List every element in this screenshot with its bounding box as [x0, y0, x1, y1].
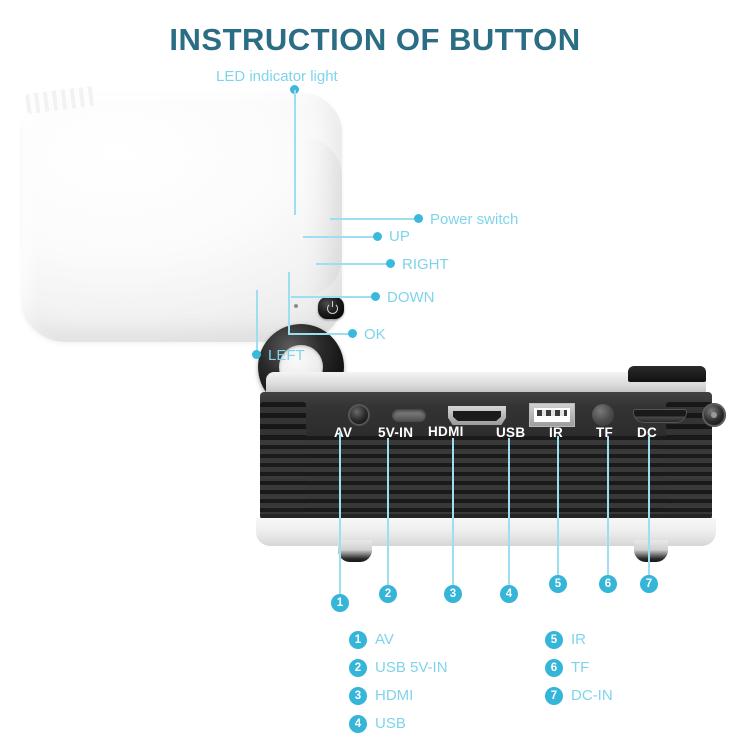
badge-line-6	[607, 436, 609, 576]
badge-4: 4	[500, 585, 518, 603]
callout-label-right: RIGHT	[402, 256, 449, 273]
port-label-tf: TF	[596, 425, 613, 440]
micro-usb-5v-in-port	[392, 409, 426, 422]
hdmi-port	[448, 406, 506, 425]
badge-line-7	[648, 436, 650, 576]
callout-dot-power-switch	[414, 214, 423, 223]
callout-line-left	[256, 290, 258, 352]
legend-badge-1: 1	[349, 631, 367, 649]
legend-badge-5: 5	[545, 631, 563, 649]
legend-badge-6: 6	[545, 659, 563, 677]
callout-label-down: DOWN	[387, 289, 435, 306]
callout-label-power-switch: Power switch	[430, 211, 518, 228]
instruction-diagram: INSTRUCTION OF BUTTON LED indicator ligh…	[0, 0, 750, 750]
rear-panel	[260, 392, 712, 520]
callout-line-down	[291, 296, 373, 298]
dc-in-port	[702, 403, 726, 427]
badge-line-3	[452, 438, 454, 586]
vent-slots-icon	[25, 86, 95, 114]
badge-3: 3	[444, 585, 462, 603]
tf-card-slot	[634, 410, 686, 422]
callout-line-power-switch	[330, 218, 416, 220]
badge-6: 6	[599, 575, 617, 593]
legend-text-7: DC-IN	[571, 687, 613, 705]
port-label-5v-in: 5V-IN	[378, 425, 413, 440]
callout-line-led-indicator	[294, 90, 296, 215]
port-label-hdmi: HDMI	[428, 424, 464, 439]
badge-line-5	[557, 436, 559, 576]
port-label-av: AV	[334, 425, 352, 440]
callout-label-left: LEFT	[268, 347, 305, 364]
legend-text-3: HDMI	[375, 687, 413, 705]
callout-line-right	[316, 263, 388, 265]
legend-text-5: IR	[571, 631, 586, 649]
badge-2: 2	[379, 585, 397, 603]
callout-line-ok	[288, 333, 350, 335]
callout-label-ok: OK	[364, 326, 386, 343]
badge-line-2	[387, 438, 389, 586]
legend-text-6: TF	[571, 659, 589, 677]
callout-label-led-indicator: LED indicator light	[216, 68, 338, 85]
badge-line-4	[508, 438, 510, 586]
badge-7: 7	[640, 575, 658, 593]
projector-rear-view	[252, 372, 722, 572]
port-label-usb: USB	[496, 425, 525, 440]
legend-badge-2: 2	[349, 659, 367, 677]
rubber-foot-left	[338, 540, 372, 562]
rear-top-protrusion	[628, 366, 706, 382]
callout-label-up: UP	[389, 228, 410, 245]
legend-badge-7: 7	[545, 687, 563, 705]
page-title: INSTRUCTION OF BUTTON	[0, 22, 750, 58]
callout-dot-down	[371, 292, 380, 301]
usb-port	[530, 404, 574, 426]
badge-5: 5	[549, 575, 567, 593]
badge-1: 1	[331, 594, 349, 612]
legend-badge-4: 4	[349, 715, 367, 733]
av-port	[348, 404, 370, 426]
callout-dot-ok	[348, 329, 357, 338]
legend-text-2: USB 5V-IN	[375, 659, 448, 677]
callout-dot-right	[386, 259, 395, 268]
power-switch-button[interactable]	[318, 297, 344, 319]
callout-line-ok-vertical	[288, 272, 290, 334]
badge-line-1	[339, 432, 341, 595]
power-icon	[327, 303, 338, 314]
led-indicator-icon	[294, 304, 298, 308]
vent-grille-center-icon	[260, 436, 712, 514]
legend-badge-3: 3	[349, 687, 367, 705]
legend-text-4: USB	[375, 715, 406, 733]
rubber-foot-right	[634, 540, 668, 562]
ir-sensor	[592, 404, 614, 426]
callout-dot-up	[373, 232, 382, 241]
callout-line-up	[303, 236, 375, 238]
legend-text-1: AV	[375, 631, 394, 649]
callout-dot-left	[252, 350, 261, 359]
